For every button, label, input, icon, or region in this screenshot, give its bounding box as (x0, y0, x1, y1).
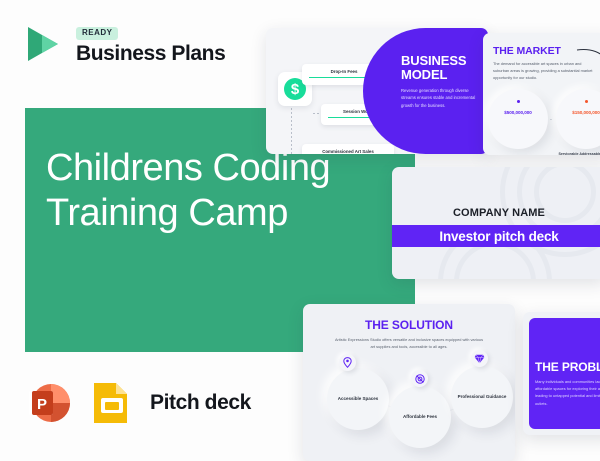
slide-the-market[interactable]: THE MARKET The demand for accessible art… (483, 33, 600, 155)
company-name-label: COMPANY NAME (392, 207, 600, 219)
metric-value: $500,000,000 (504, 110, 532, 115)
slide-company-name[interactable]: COMPANY NAME Investor pitch deck (392, 167, 600, 279)
powerpoint-icon[interactable]: P (24, 378, 74, 428)
problem-heading: THE PROBLEM (535, 360, 600, 374)
diamond-icon (471, 350, 488, 367)
solution-pillar-label: Affordable Fees (403, 414, 437, 421)
brand-logo[interactable]: READY Business Plans (22, 22, 225, 66)
metric-value: $150,000,000 (572, 110, 600, 115)
svg-text:P: P (37, 396, 47, 413)
map-pin-icon (339, 354, 356, 371)
target-circle-icon (411, 370, 428, 387)
play-triangle-logo-icon (22, 22, 66, 66)
business-model-heading-line1: BUSINESS (401, 54, 478, 68)
investor-pitch-deck-label: Investor pitch deck (439, 229, 558, 244)
problem-description: Many individuals and communities lack ac… (535, 378, 600, 407)
investor-pitch-deck-band: Investor pitch deck (392, 225, 600, 247)
solution-pillar: Affordable Fees (389, 386, 451, 448)
solution-pillar: Professional Guidance (451, 366, 513, 428)
format-badges: P Pitch deck (24, 378, 251, 428)
brand-title: Business Plans (76, 43, 225, 65)
market-heading: THE MARKET (493, 45, 561, 57)
slide-the-problem[interactable]: THE PROBLEM Many individuals and communi… (523, 312, 600, 435)
pitch-deck-label: Pitch deck (150, 391, 251, 415)
market-metric: $500,000,000 Total Addressable Market (T… (488, 89, 548, 149)
google-slides-icon[interactable] (88, 379, 136, 427)
metric-dot-icon (585, 100, 588, 103)
solution-heading: THE SOLUTION (303, 318, 515, 332)
business-model-item: Commissioned Art Sales (302, 144, 394, 154)
business-model-purple-panel: BUSINESS MODEL Revenue generation throug… (363, 28, 488, 154)
solution-pillar: Accessible Spaces (327, 368, 389, 430)
page-title: Childrens Coding Training Camp (46, 146, 401, 236)
poster-canvas: READY Business Plans Childrens Coding Tr… (0, 0, 600, 461)
market-metric: $150,000,000 Serviceable Addressable Mar… (556, 89, 600, 149)
solution-description: Artistic Expressions Studio offers versa… (333, 336, 485, 350)
ready-badge: READY (76, 27, 118, 40)
slide-the-solution[interactable]: THE SOLUTION Artistic Expressions Studio… (303, 304, 515, 461)
market-description: The demand for accessible art spaces in … (493, 60, 593, 82)
metric-label: Serviceable Addressable Market (SAM) (555, 152, 600, 155)
business-model-item-label: Commissioned Art Sales (309, 149, 387, 154)
business-model-description: Revenue generation through diverse strea… (401, 87, 478, 109)
solution-pillar-label: Professional Guidance (458, 394, 507, 401)
solution-pillar-label: Accessible Spaces (338, 396, 379, 403)
slide-business-model[interactable]: $ Drop-In Fees Session Workshops Commiss… (266, 28, 488, 154)
business-model-heading-line2: MODEL (401, 68, 478, 82)
metric-dot-icon (517, 100, 520, 103)
